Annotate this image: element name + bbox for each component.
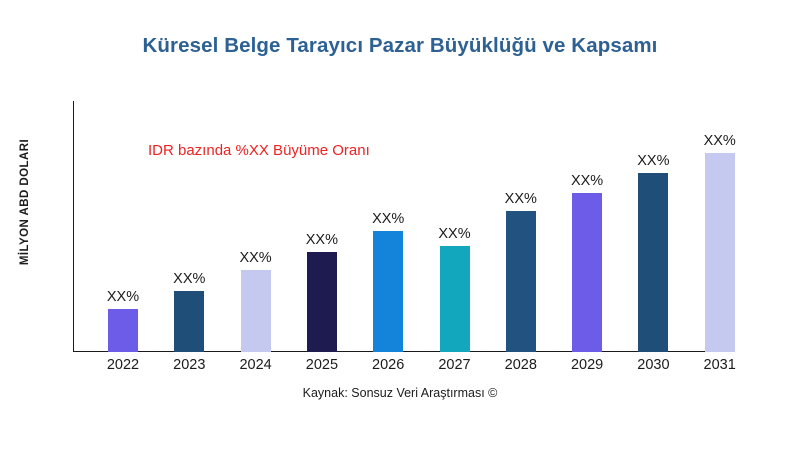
x-tick-2023: 2023 [157,357,221,373]
source-note: Kaynak: Sonsuz Veri Araştırması © [0,386,800,400]
bar-group-2029: XX% [572,193,602,352]
bar-2031 [705,153,735,352]
bar-group-2030: XX% [638,173,668,352]
bar-2030 [638,173,668,352]
x-tick-2026: 2026 [356,357,420,373]
bar-value-label-2027: XX% [438,226,470,242]
bar-group-2026: XX% [373,231,403,352]
growth-rate-annotation: IDR bazında %XX Büyüme Oranı [148,142,370,159]
bar-group-2031: XX% [705,153,735,352]
y-axis-line [73,101,74,352]
bar-group-2022: XX% [108,309,138,352]
bar-group-2025: XX% [307,252,337,352]
x-tick-2024: 2024 [224,357,288,373]
bar-2026 [373,231,403,352]
bar-2029 [572,193,602,352]
bar-2028 [506,211,536,352]
bar-2022 [108,309,138,352]
bar-value-label-2023: XX% [173,271,205,287]
bar-2025 [307,252,337,352]
bar-group-2028: XX% [506,211,536,352]
x-tick-2022: 2022 [91,357,155,373]
bar-value-label-2026: XX% [372,211,404,227]
bar-group-2024: XX% [241,270,271,352]
bar-value-label-2025: XX% [306,232,338,248]
bar-value-label-2024: XX% [239,250,271,266]
chart-container: Küresel Belge Tarayıcı Pazar Büyüklüğü v… [0,0,800,450]
bar-group-2023: XX% [174,291,204,352]
bar-value-label-2029: XX% [571,173,603,189]
bar-2027 [440,246,470,352]
bar-value-label-2022: XX% [107,289,139,305]
x-tick-2025: 2025 [290,357,354,373]
bar-2024 [241,270,271,352]
x-tick-2028: 2028 [489,357,553,373]
x-tick-2029: 2029 [555,357,619,373]
bar-group-2027: XX% [440,246,470,352]
x-tick-2031: 2031 [688,357,752,373]
plot-area: XX%XX%XX%XX%XX%XX%XX%XX%XX%XX% 202220232… [0,0,800,450]
bar-2023 [174,291,204,352]
x-tick-2030: 2030 [621,357,685,373]
bar-value-label-2031: XX% [704,133,736,149]
x-tick-2027: 2027 [423,357,487,373]
bar-value-label-2030: XX% [637,153,669,169]
bar-value-label-2028: XX% [505,191,537,207]
